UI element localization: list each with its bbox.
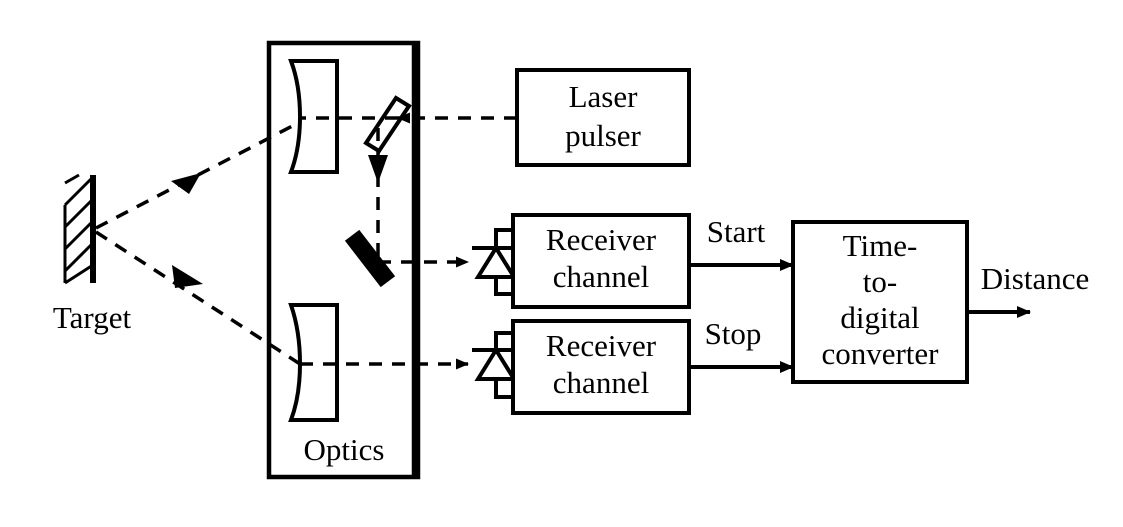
fold-mirror bbox=[347, 232, 393, 285]
path-target-to-receive-arrowhead bbox=[172, 265, 203, 288]
transmit-lens bbox=[291, 61, 337, 172]
target-surface bbox=[65, 175, 93, 283]
path-transmit-to-target-arrowhead bbox=[171, 173, 201, 194]
laser-pulser-label-line1: Laser bbox=[569, 79, 639, 114]
receiver-channel-start-label-line1: Receiver bbox=[546, 222, 657, 257]
target-label: Target bbox=[53, 300, 132, 335]
diagram-canvas: Target Optics bbox=[0, 0, 1123, 527]
tdc-label-line1: Time- bbox=[843, 228, 918, 263]
path-splitter-down-arrowhead bbox=[368, 155, 388, 183]
tdc-label-line3: digital bbox=[840, 300, 919, 335]
tdc-label-line2: to- bbox=[863, 264, 897, 299]
distance-output-label: Distance bbox=[981, 261, 1089, 296]
stop-signal-label: Stop bbox=[705, 316, 762, 351]
laser-pulser-label-line2: pulser bbox=[565, 118, 641, 153]
beam-splitter bbox=[366, 98, 409, 151]
receiver-channel-stop-label-line2: channel bbox=[553, 365, 649, 400]
start-signal-label: Start bbox=[707, 214, 766, 249]
block-diagram-svg: Target Optics bbox=[0, 0, 1123, 527]
tdc-label-line4: converter bbox=[821, 336, 939, 371]
optics-label: Optics bbox=[304, 432, 385, 467]
receiver-channel-stop-label-line1: Receiver bbox=[546, 328, 657, 363]
receiver-channel-start-label-line2: channel bbox=[553, 259, 649, 294]
